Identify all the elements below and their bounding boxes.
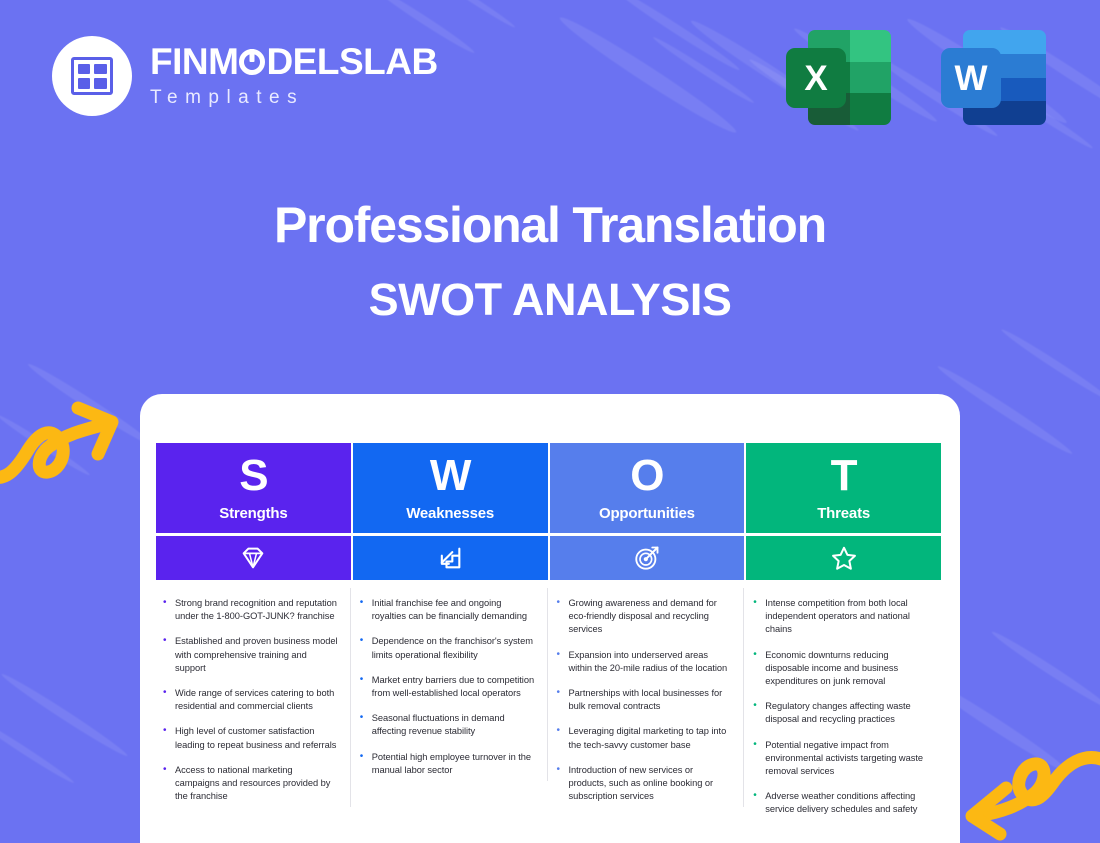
brand-tagline: Templates — [150, 87, 438, 109]
excel-icon[interactable]: X — [786, 25, 891, 130]
star-outline-icon — [830, 544, 858, 572]
word-icon[interactable]: W — [941, 25, 1046, 130]
squiggly-arrow-down-left-icon — [956, 742, 1100, 842]
swot-label-weaknesses: Weaknesses — [406, 505, 494, 522]
swot-body-weaknesses: Initial franchise fee and ongoing royalt… — [353, 580, 548, 789]
logo-badge — [52, 36, 132, 116]
swot-header-threats[interactable]: T Threats — [746, 443, 941, 533]
swot-list-threats: Intense competition from both local inde… — [750, 597, 929, 816]
list-item: Initial franchise fee and ongoing royalt… — [372, 598, 527, 621]
swot-list-strengths: Strong brand recognition and reputation … — [160, 597, 339, 803]
excel-icon-letter: X — [786, 48, 846, 108]
swot-label-opportunities: Opportunities — [599, 505, 695, 522]
swot-body-opportunities: Growing awareness and demand for eco-fri… — [550, 580, 745, 815]
list-item: Regulatory changes affecting waste dispo… — [765, 701, 910, 724]
list-item: Access to national marketing campaigns a… — [175, 765, 330, 801]
list-item: Adverse weather conditions affecting ser… — [765, 791, 917, 814]
word-icon-letter: W — [941, 48, 1001, 108]
diamond-gem-icon — [239, 544, 267, 572]
list-item: Economic downturns reducing disposable i… — [765, 650, 898, 686]
list-item: Leveraging digital marketing to tap into… — [569, 726, 727, 749]
grid-squares-icon — [71, 57, 113, 95]
swot-header-strengths[interactable]: S Strengths — [156, 443, 351, 533]
swot-header-opportunities[interactable]: O Opportunities — [550, 443, 745, 533]
logo-text-block: FINM DELSLAB Templates — [150, 43, 438, 109]
list-item: Partnerships with local businesses for b… — [569, 688, 723, 711]
brand-logo[interactable]: FINM DELSLAB Templates — [52, 36, 438, 116]
swot-list-opportunities: Growing awareness and demand for eco-fri… — [554, 597, 733, 803]
declining-stairs-arrow-icon — [436, 544, 464, 572]
swot-body-threats: Intense competition from both local inde… — [746, 580, 941, 828]
swot-icon-cell-opportunities — [550, 536, 745, 580]
swot-column-weaknesses: W Weaknesses Initial franchise fee and o… — [353, 443, 548, 828]
swot-icon-cell-strengths — [156, 536, 351, 580]
swot-column-threats: T Threats Intense competition from both … — [746, 443, 941, 828]
list-item: Intense competition from both local inde… — [765, 598, 910, 634]
swot-letter-s: S — [239, 454, 267, 498]
swot-column-opportunities: O Opportunities Growing awareness and de… — [550, 443, 745, 828]
swot-label-strengths: Strengths — [219, 505, 287, 522]
format-icons-group: X W — [786, 25, 1046, 130]
page-title: Professional Translation — [0, 196, 1100, 254]
list-item: Market entry barriers due to competition… — [372, 675, 534, 698]
poster-canvas: FINM DELSLAB Templates X W — [0, 0, 1100, 843]
swot-icon-cell-weaknesses — [353, 536, 548, 580]
brand-name-part2: DELSLAB — [266, 43, 437, 80]
list-item: Seasonal fluctuations in demand affectin… — [372, 713, 505, 736]
brand-name-part1: FINM — [150, 43, 238, 80]
list-item: Introduction of new services or products… — [569, 765, 714, 801]
page-subtitle: SWOT ANALYSIS — [0, 274, 1100, 326]
swot-card: S Strengths Strong brand recognition and… — [140, 394, 960, 843]
swot-list-weaknesses: Initial franchise fee and ongoing royalt… — [357, 597, 536, 777]
list-item: Wide range of services catering to both … — [175, 688, 334, 711]
list-item: Expansion into underserved areas within … — [569, 650, 728, 673]
swot-label-threats: Threats — [817, 505, 870, 522]
swot-letter-o: O — [630, 454, 663, 498]
swot-table: S Strengths Strong brand recognition and… — [156, 443, 941, 828]
list-item: Dependence on the franchisor's system li… — [372, 636, 533, 659]
list-item: High level of customer satisfaction lead… — [175, 726, 336, 749]
swot-column-strengths: S Strengths Strong brand recognition and… — [156, 443, 351, 828]
list-item: Strong brand recognition and reputation … — [175, 598, 337, 621]
swot-header-weaknesses[interactable]: W Weaknesses — [353, 443, 548, 533]
swot-letter-t: T — [831, 454, 857, 498]
swot-letter-w: W — [430, 454, 471, 498]
list-item: Potential negative impact from environme… — [765, 740, 923, 776]
squiggly-arrow-up-right-icon — [0, 398, 136, 493]
power-o-icon — [239, 49, 265, 75]
swot-icon-cell-threats — [746, 536, 941, 580]
brand-name: FINM DELSLAB — [150, 43, 438, 80]
swot-body-strengths: Strong brand recognition and reputation … — [156, 580, 351, 815]
list-item: Growing awareness and demand for eco-fri… — [569, 598, 717, 634]
target-arrow-icon — [633, 544, 661, 572]
list-item: Established and proven business model wi… — [175, 636, 338, 672]
list-item: Potential high employee turnover in the … — [372, 752, 531, 775]
